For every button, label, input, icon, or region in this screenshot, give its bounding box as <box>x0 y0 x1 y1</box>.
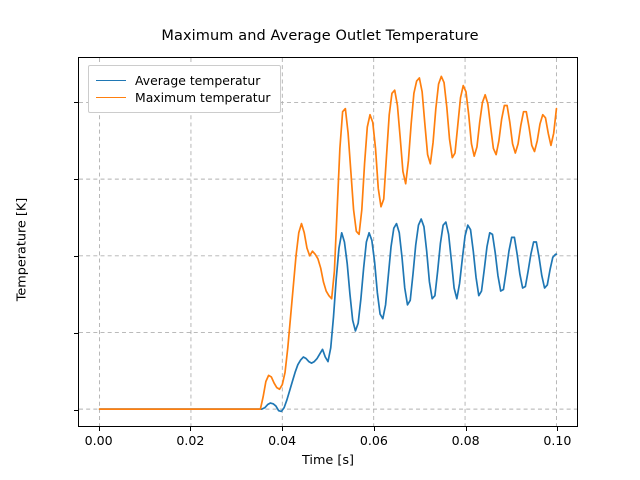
x-tick-mark <box>99 427 100 431</box>
x-tick-label: 0.04 <box>268 433 296 448</box>
legend-swatch-line-icon <box>96 80 126 81</box>
legend-item: Maximum temperatur <box>96 89 271 106</box>
x-tick-label: 0.00 <box>85 433 113 448</box>
chart-legend: Average temperaturMaximum temperatur <box>88 65 281 113</box>
x-tick-mark <box>466 427 467 431</box>
legend-label: Maximum temperatur <box>135 90 271 105</box>
x-tick-mark <box>374 427 375 431</box>
data-layer <box>79 58 577 426</box>
legend-item: Average temperatur <box>96 72 271 89</box>
chart-title: Maximum and Average Outlet Temperature <box>0 28 640 44</box>
y-tick-mark <box>74 333 78 334</box>
x-tick-label: 0.06 <box>360 433 388 448</box>
x-tick-label: 0.02 <box>176 433 204 448</box>
series-line-0 <box>100 219 557 411</box>
y-tick-mark <box>74 410 78 411</box>
x-tick-mark <box>557 427 558 431</box>
x-tick-label: 0.10 <box>543 433 571 448</box>
matplotlib-figure: Maximum and Average Outlet Temperature 3… <box>0 0 640 480</box>
x-axis-label: Time [s] <box>78 453 578 468</box>
y-tick-mark <box>74 179 78 180</box>
x-tick-mark <box>190 427 191 431</box>
x-tick-mark <box>282 427 283 431</box>
y-tick-mark <box>74 256 78 257</box>
x-tick-label: 0.08 <box>452 433 480 448</box>
legend-label: Average temperatur <box>135 73 260 88</box>
y-tick-mark <box>74 102 78 103</box>
y-axis-label: Temperature [K] <box>15 150 30 350</box>
legend-swatch-line-icon <box>96 97 126 98</box>
